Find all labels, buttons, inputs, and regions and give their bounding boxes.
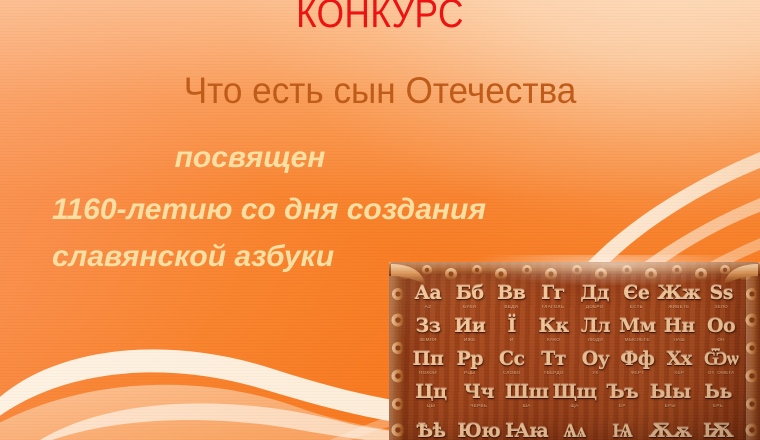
letter-cell: Ѿѡ ОТ, ОМЕГА bbox=[700, 350, 742, 376]
letter-glyph: Чч bbox=[455, 383, 503, 402]
letter-cell: Дд ДОБРО bbox=[574, 284, 616, 310]
letter-cell: Ѧѧ bbox=[551, 422, 599, 440]
letter-glyph: Оо bbox=[700, 317, 742, 336]
letter-cell: Нн НАШ bbox=[658, 317, 700, 343]
letter-name: ЧЕРВЬ bbox=[455, 403, 503, 408]
wooden-board-panel: Аа АЗ Бб БУКИ Вв ВЕДИ Гг ГЛАГОЛЬ bbox=[389, 262, 760, 440]
letter-glyph: Шш bbox=[503, 383, 551, 402]
letter-glyph: Тт bbox=[533, 350, 575, 369]
letter-cell: Шш ША bbox=[503, 383, 551, 409]
letter-cell: Кк КАКО bbox=[533, 317, 575, 343]
letter-cell: Жж ЖИВЕТЕ bbox=[657, 284, 700, 310]
page-title: Что есть сын Отечества bbox=[19, 71, 741, 112]
letter-name: ФЕРТ bbox=[616, 370, 658, 375]
subtitle-line-2: 1160-летию со дня создания bbox=[0, 193, 760, 228]
letter-glyph: Ъъ bbox=[598, 383, 646, 402]
letter-glyph: Ии bbox=[449, 317, 491, 336]
letter-cell: Ї И bbox=[491, 317, 533, 343]
letter-cell: Гг ГЛАГОЛЬ bbox=[532, 284, 574, 310]
letter-glyph: Мм bbox=[616, 317, 658, 336]
letter-glyph: Хх bbox=[658, 350, 700, 369]
letter-cell: Бб БУКИ bbox=[449, 284, 491, 310]
letter-glyph: Рр bbox=[449, 350, 491, 369]
letter-cell: Ьь ЕРЬ bbox=[694, 383, 742, 409]
letter-name: МЫСЛЕТЕ bbox=[616, 337, 658, 342]
letter-glyph: Ї bbox=[491, 317, 533, 336]
letter-glyph: Ѧѧ bbox=[551, 422, 599, 440]
letter-cell: Оо ОН bbox=[700, 317, 742, 343]
alphabet-row: Зз ЗЕМЛЯ Ии ИЖЕ Ї И Кк КАКО bbox=[407, 309, 742, 342]
letter-glyph: Ѩ bbox=[598, 422, 646, 440]
letter-cell: Ыы ЕРЫ bbox=[646, 383, 694, 409]
letter-cell: Юю bbox=[455, 422, 503, 440]
letter-name: ЛЮДИ bbox=[575, 337, 617, 342]
letter-name: ЩА bbox=[551, 403, 599, 408]
letter-name: ЗЕЛО bbox=[700, 304, 742, 309]
letter-name: БУКИ bbox=[449, 304, 491, 309]
letter-name: ЗЕМЛЯ bbox=[407, 337, 449, 342]
presentation-slide: КОНКУРС Что есть сын Отечества посвящен … bbox=[0, 0, 760, 440]
letter-cell: Ии ИЖЕ bbox=[449, 317, 491, 343]
letter-name: РЦЫ bbox=[449, 370, 491, 375]
alphabet-row: Цц ЦЫ Чч ЧЕРВЬ Шш ША Щщ ЩА bbox=[407, 375, 742, 408]
letter-name: ОН bbox=[700, 337, 742, 342]
letter-name: ВЕДИ bbox=[490, 304, 532, 309]
letter-cell: Чч ЧЕРВЬ bbox=[455, 383, 503, 409]
letter-glyph: Гг bbox=[532, 284, 574, 303]
letter-cell: Цц ЦЫ bbox=[407, 383, 455, 409]
letter-name: АЗ bbox=[407, 304, 449, 309]
letter-name: И bbox=[491, 337, 533, 342]
letter-glyph: Кк bbox=[533, 317, 575, 336]
letter-cell: Ѫѫ bbox=[646, 422, 694, 440]
letter-name: ЕРЫ bbox=[646, 403, 694, 408]
letter-glyph: Ѣѣ bbox=[407, 422, 455, 440]
letter-name: ЦЫ bbox=[407, 403, 455, 408]
letter-name: ЕРЬ bbox=[694, 403, 742, 408]
ornament-right-column bbox=[746, 276, 760, 440]
alphabet-row: Пп ПОКОЙ Рр РЦЫ Сс СЛОВО Тт ТВЕРДО bbox=[407, 342, 742, 375]
letter-name: НАШ bbox=[658, 337, 700, 342]
letter-glyph: Зз bbox=[407, 317, 449, 336]
letter-cell: Ѭ bbox=[694, 422, 742, 440]
letter-cell: Фф ФЕРТ bbox=[616, 350, 658, 376]
letter-glyph: Фф bbox=[616, 350, 658, 369]
letter-cell: Вв ВЕДИ bbox=[490, 284, 532, 310]
letter-cell: Щщ ЩА bbox=[551, 383, 599, 409]
letter-glyph: Ꙗꙗ bbox=[503, 422, 551, 440]
letter-glyph: Оу bbox=[575, 350, 617, 369]
letter-glyph: Сс bbox=[491, 350, 533, 369]
letter-name: ИЖЕ bbox=[449, 337, 491, 342]
alphabet-row: Ѣѣ Юю Ꙗꙗ Ѧѧ Ѩ Ѫѫ bbox=[407, 408, 742, 440]
alphabet-rows: Аа АЗ Бб БУКИ Вв ВЕДИ Гг ГЛАГОЛЬ bbox=[407, 276, 742, 440]
letter-glyph: Ьь bbox=[694, 383, 742, 402]
ornament-left-column bbox=[389, 276, 405, 440]
letter-glyph: Цц bbox=[407, 383, 455, 402]
letter-cell: Тт ТВЕРДО bbox=[533, 350, 575, 376]
letter-name: СЛОВО bbox=[491, 370, 533, 375]
letter-cell: Хх ХЕР bbox=[658, 350, 700, 376]
contest-headline: КОНКУРС bbox=[46, 0, 715, 35]
letter-cell: Ѣѣ bbox=[407, 422, 455, 440]
letter-name: ЖИВЕТЕ bbox=[657, 304, 700, 309]
letter-glyph: Ѕѕ bbox=[700, 284, 742, 303]
letter-cell: Ꙗꙗ bbox=[503, 422, 551, 440]
letter-cell: Лл ЛЮДИ bbox=[575, 317, 617, 343]
letter-glyph: Єе bbox=[616, 284, 658, 303]
letter-glyph: Аа bbox=[407, 284, 449, 303]
letter-cell: Сс СЛОВО bbox=[491, 350, 533, 376]
slavic-alphabet-board-image: Аа АЗ Бб БУКИ Вв ВЕДИ Гг ГЛАГОЛЬ bbox=[389, 255, 760, 440]
letter-cell: Пп ПОКОЙ bbox=[407, 350, 449, 376]
letter-name: ПОКОЙ bbox=[407, 370, 449, 375]
letter-glyph: Ыы bbox=[646, 383, 694, 402]
letter-name: ЕР bbox=[598, 403, 646, 408]
letter-name: ГЛАГОЛЬ bbox=[532, 304, 574, 309]
letter-name: ША bbox=[503, 403, 551, 408]
letter-name: УК bbox=[575, 370, 617, 375]
letter-glyph: Вв bbox=[490, 284, 532, 303]
letter-glyph: Дд bbox=[574, 284, 616, 303]
letter-glyph: Щщ bbox=[551, 383, 599, 402]
letter-cell: Аа АЗ bbox=[407, 284, 449, 310]
letter-glyph: Жж bbox=[657, 284, 700, 303]
letter-cell: Єе ЕСТЬ bbox=[616, 284, 658, 310]
letter-name: ТВЕРДО bbox=[533, 370, 575, 375]
letter-glyph: Пп bbox=[407, 350, 449, 369]
letter-name: ДОБРО bbox=[574, 304, 616, 309]
letter-cell: Зз ЗЕМЛЯ bbox=[407, 317, 449, 343]
letter-glyph: Бб bbox=[449, 284, 491, 303]
letter-cell: Оу УК bbox=[575, 350, 617, 376]
letter-name: КАКО bbox=[533, 337, 575, 342]
letter-cell: Мм МЫСЛЕТЕ bbox=[616, 317, 658, 343]
letter-glyph: Ѿѡ bbox=[700, 350, 742, 369]
letter-glyph: Юю bbox=[455, 422, 503, 440]
letter-name: ХЕР bbox=[658, 370, 700, 375]
letter-glyph: Нн bbox=[658, 317, 700, 336]
subtitle-line-1: посвящен bbox=[0, 141, 760, 176]
letter-cell: Ѩ bbox=[598, 422, 646, 440]
letter-glyph: Лл bbox=[575, 317, 617, 336]
letter-name: ЕСТЬ bbox=[616, 304, 658, 309]
letter-name: ОТ, ОМЕГА bbox=[700, 370, 742, 375]
letter-cell: Ъъ ЕР bbox=[598, 383, 646, 409]
alphabet-row: Аа АЗ Бб БУКИ Вв ВЕДИ Гг ГЛАГОЛЬ bbox=[407, 276, 742, 309]
letter-glyph: Ѫѫ bbox=[646, 422, 694, 440]
letter-glyph: Ѭ bbox=[694, 422, 742, 440]
letter-cell: Ѕѕ ЗЕЛО bbox=[700, 284, 742, 310]
letter-cell: Рр РЦЫ bbox=[449, 350, 491, 376]
